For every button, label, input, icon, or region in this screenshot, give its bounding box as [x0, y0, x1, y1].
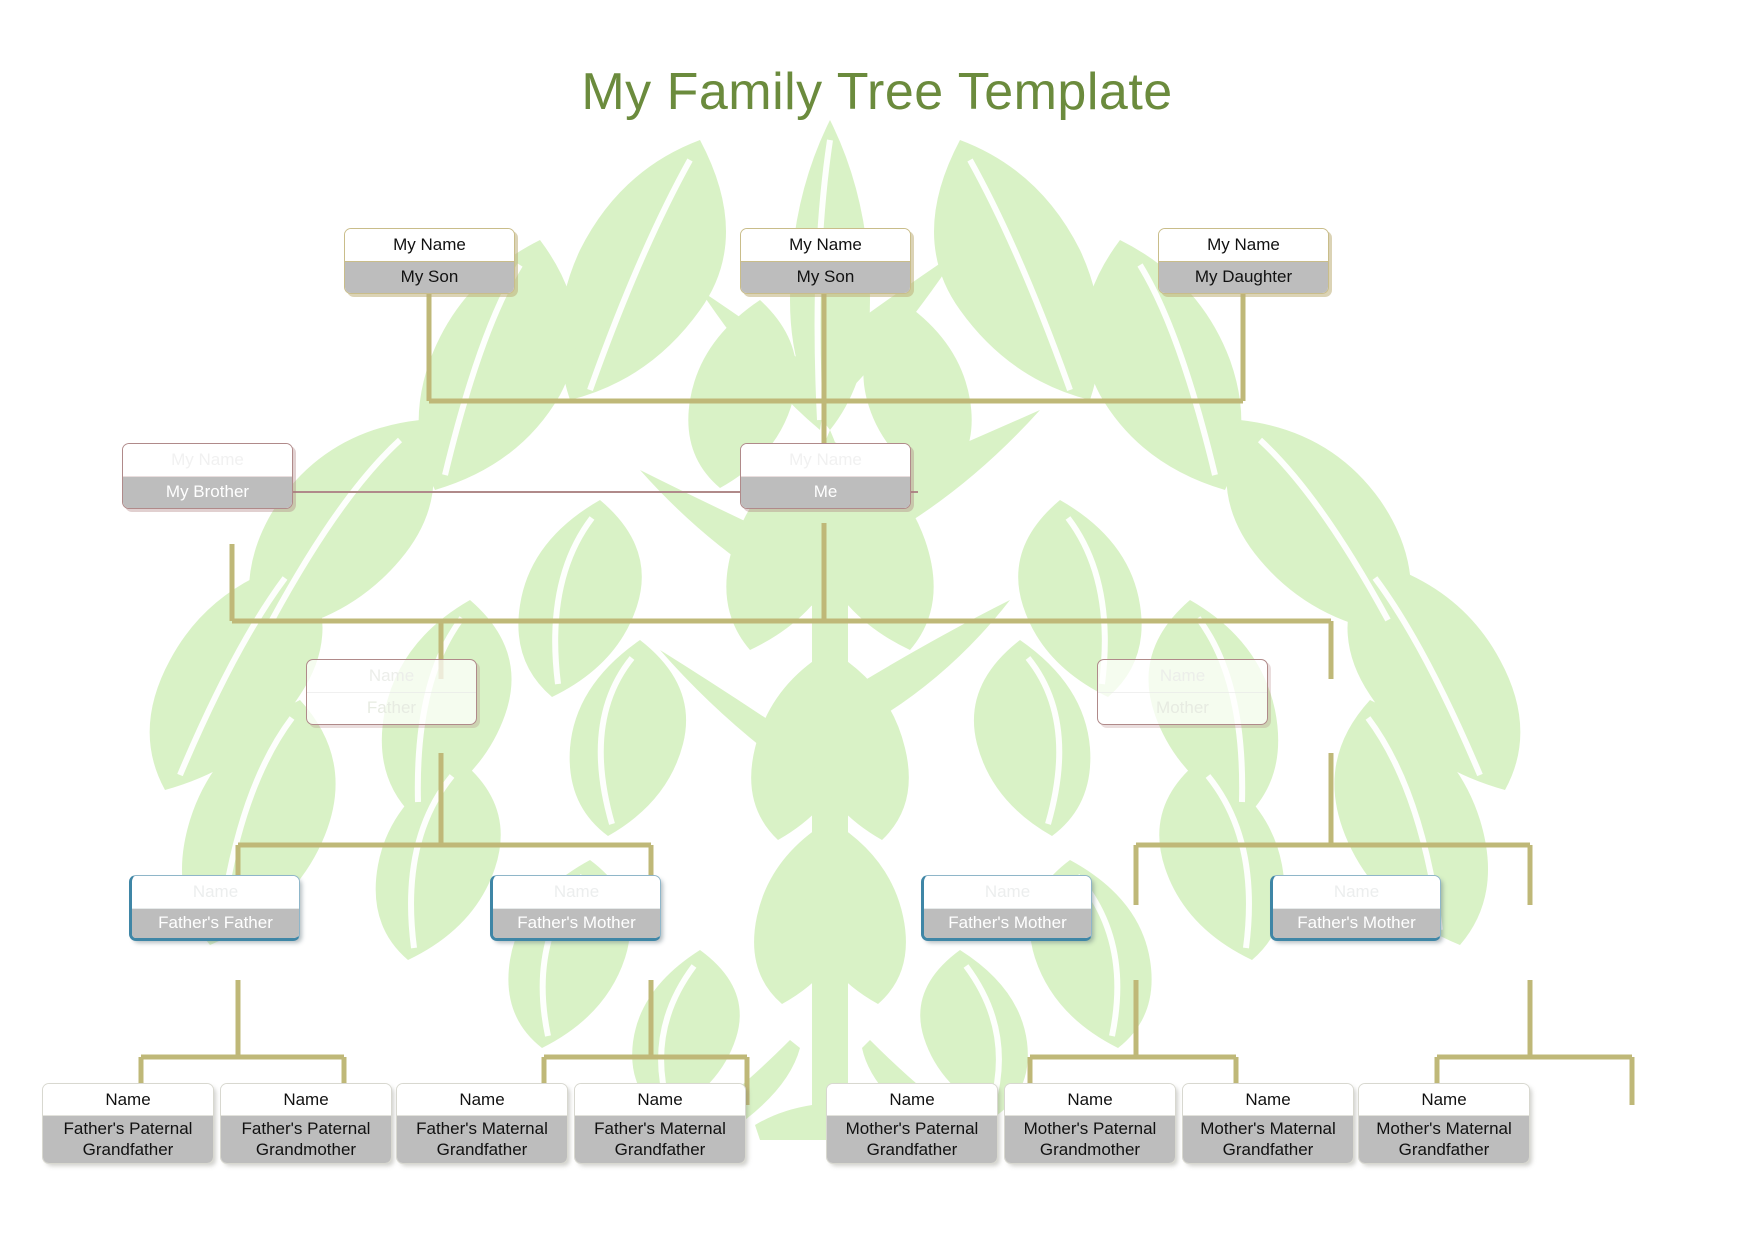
node-relation-label: Father's Mother: [924, 909, 1091, 938]
node-relation-label: Father's Mother: [1273, 909, 1440, 938]
node-relation-label: Mother's Maternal Grandfather: [1359, 1116, 1529, 1163]
node-great-grandparent-1[interactable]: Name Father's Paternal Grandfather: [42, 1083, 214, 1164]
node-grandparent-3[interactable]: Name Father's Mother: [921, 875, 1092, 941]
node-name-label: Name: [397, 1084, 567, 1116]
node-name-label: My Name: [1159, 229, 1328, 262]
family-tree-canvas: My Family Tree Template: [0, 0, 1754, 1240]
node-relation-label: Father's Maternal Grandfather: [397, 1116, 567, 1163]
node-name-label: Name: [1273, 876, 1440, 909]
node-name-label: Name: [132, 876, 299, 909]
node-name-label: Name: [1183, 1084, 1353, 1116]
node-relation-label: My Son: [741, 262, 910, 293]
node-great-grandparent-2[interactable]: Name Father's Paternal Grandmother: [220, 1083, 392, 1164]
node-name-label: Name: [307, 660, 476, 693]
node-name-label: Name: [575, 1084, 745, 1116]
node-grandparent-1[interactable]: Name Father's Father: [129, 875, 300, 941]
node-great-grandparent-5[interactable]: Name Mother's Paternal Grandfather: [826, 1083, 998, 1164]
node-relation-label: My Son: [345, 262, 514, 293]
node-grandparent-2[interactable]: Name Father's Mother: [490, 875, 661, 941]
node-relation-label: My Brother: [123, 477, 292, 508]
node-parent-mother[interactable]: Name Mother: [1097, 659, 1268, 725]
node-relation-label: Mother's Paternal Grandfather: [827, 1116, 997, 1163]
node-parent-father[interactable]: Name Father: [306, 659, 477, 725]
node-great-grandparent-6[interactable]: Name Mother's Paternal Grandmother: [1004, 1083, 1176, 1164]
node-name-label: My Name: [123, 444, 292, 477]
tree-background-illustration: [0, 0, 1754, 1240]
node-child-1[interactable]: My Name My Son: [344, 228, 515, 294]
node-name-label: Name: [924, 876, 1091, 909]
node-child-3[interactable]: My Name My Daughter: [1158, 228, 1329, 294]
node-relation-label: Mother's Maternal Grandfather: [1183, 1116, 1353, 1163]
node-name-label: Name: [43, 1084, 213, 1116]
node-relation-label: Father's Maternal Grandfather: [575, 1116, 745, 1163]
node-great-grandparent-4[interactable]: Name Father's Maternal Grandfather: [574, 1083, 746, 1164]
node-relation-label: Father's Father: [132, 909, 299, 938]
node-name-label: Name: [827, 1084, 997, 1116]
node-name-label: My Name: [741, 229, 910, 262]
node-great-grandparent-3[interactable]: Name Father's Maternal Grandfather: [396, 1083, 568, 1164]
node-relation-label: Father's Paternal Grandmother: [221, 1116, 391, 1163]
connector-lines: [0, 0, 1754, 1240]
node-name-label: My Name: [345, 229, 514, 262]
node-relation-label: Father: [307, 693, 476, 724]
node-child-2[interactable]: My Name My Son: [740, 228, 911, 294]
node-relation-label: My Daughter: [1159, 262, 1328, 293]
node-relation-label: Father's Mother: [493, 909, 660, 938]
node-self-me[interactable]: My Name Me: [740, 443, 911, 509]
node-name-label: My Name: [741, 444, 910, 477]
node-name-label: Name: [1359, 1084, 1529, 1116]
node-relation-label: Father's Paternal Grandfather: [43, 1116, 213, 1163]
node-sibling-brother[interactable]: My Name My Brother: [122, 443, 293, 509]
node-name-label: Name: [1098, 660, 1267, 693]
node-great-grandparent-7[interactable]: Name Mother's Maternal Grandfather: [1182, 1083, 1354, 1164]
node-relation-label: Me: [741, 477, 910, 508]
page-title: My Family Tree Template: [0, 62, 1754, 122]
node-relation-label: Mother: [1098, 693, 1267, 724]
node-name-label: Name: [493, 876, 660, 909]
node-relation-label: Mother's Paternal Grandmother: [1005, 1116, 1175, 1163]
node-great-grandparent-8[interactable]: Name Mother's Maternal Grandfather: [1358, 1083, 1530, 1164]
node-grandparent-4[interactable]: Name Father's Mother: [1270, 875, 1441, 941]
node-name-label: Name: [1005, 1084, 1175, 1116]
node-name-label: Name: [221, 1084, 391, 1116]
